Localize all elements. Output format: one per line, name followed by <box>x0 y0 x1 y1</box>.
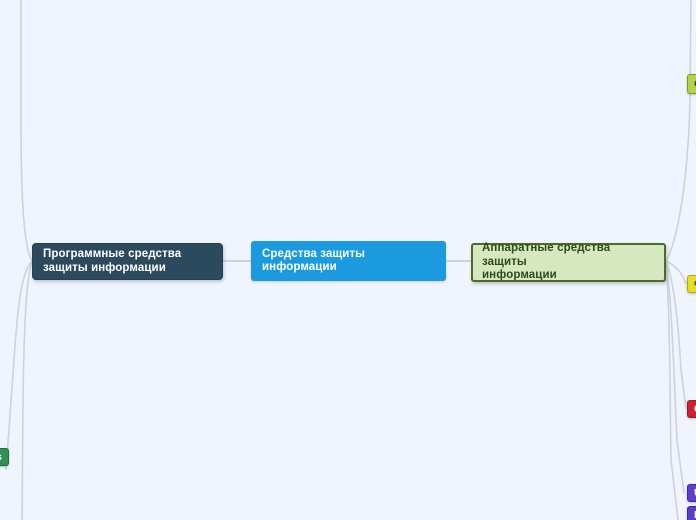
branch-node-hardware-protection[interactable]: Аппаратные средства защиты информации <box>471 243 666 282</box>
offscreen-node-left-lower-label: s <box>0 451 2 463</box>
offscreen-node-right-lower-2[interactable]: N <box>687 506 696 520</box>
edge-right-sub-1 <box>666 0 691 261</box>
edge-right-sub-3 <box>666 261 686 409</box>
edge-right-sub-2 <box>666 261 686 284</box>
central-node-information-protection[interactable]: Средства защиты информации <box>251 241 446 281</box>
central-node-label: Средства защиты информации <box>262 248 365 275</box>
offscreen-node-right-lower-1[interactable]: U <box>687 484 696 502</box>
branch-node-hardware-protection-label: Аппаратные средства защиты информации <box>482 242 655 282</box>
edge-right-sub-4 <box>666 263 684 493</box>
edge-left-sub-3 <box>22 261 32 520</box>
edge-left-sub-1 <box>21 0 32 261</box>
branch-node-software-protection[interactable]: Программные средства защиты информации <box>32 243 223 280</box>
offscreen-node-right-upper[interactable]: Ф <box>687 275 696 293</box>
offscreen-node-right-middle[interactable]: С <box>687 400 696 418</box>
offscreen-node-top-right[interactable]: О <box>687 74 696 94</box>
offscreen-node-left-lower[interactable]: s <box>0 448 9 466</box>
edge-left-sub-2 <box>6 261 32 470</box>
branch-node-software-protection-label: Программные средства защиты информации <box>43 248 181 275</box>
edge-right-sub-5 <box>666 263 678 520</box>
mindmap-canvas[interactable]: Программные средства защиты информации С… <box>0 0 696 520</box>
